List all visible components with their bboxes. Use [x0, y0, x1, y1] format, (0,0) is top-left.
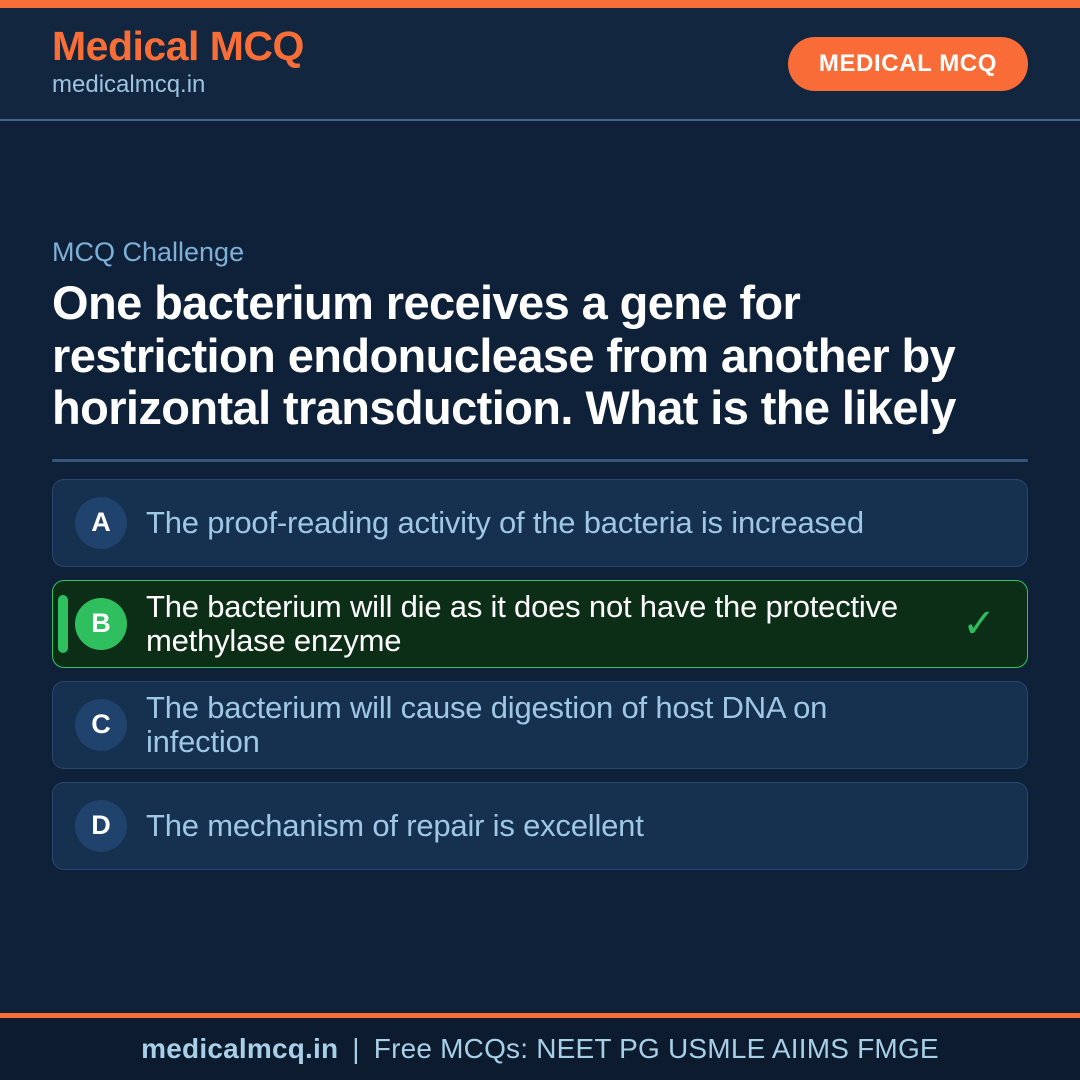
- header-badge: MEDICAL MCQ: [788, 37, 1028, 91]
- footer: medicalmcq.in|Free MCQs: NEET PG USMLE A…: [0, 1013, 1080, 1080]
- question-label: MCQ Challenge: [52, 236, 1028, 268]
- footer-text: medicalmcq.in|Free MCQs: NEET PG USMLE A…: [141, 1033, 939, 1065]
- option-a[interactable]: A The proof-reading activity of the bact…: [52, 479, 1028, 567]
- header: Medical MCQ medicalmcq.in MEDICAL MCQ: [0, 8, 1080, 121]
- main-content: MCQ Challenge One bacterium receives a g…: [0, 121, 1080, 1013]
- option-d-letter: D: [75, 800, 127, 852]
- option-b[interactable]: B The bacterium will die as it does not …: [52, 580, 1028, 668]
- brand-title: Medical MCQ: [52, 25, 304, 68]
- brand: Medical MCQ medicalmcq.in: [52, 25, 304, 101]
- brand-subtitle: medicalmcq.in: [52, 69, 304, 101]
- option-c-text: The bacterium will cause digestion of ho…: [146, 691, 938, 758]
- footer-site: medicalmcq.in: [141, 1033, 338, 1064]
- option-b-text: The bacterium will die as it does not ha…: [146, 590, 938, 657]
- option-c[interactable]: C The bacterium will cause digestion of …: [52, 681, 1028, 769]
- question-text: One bacterium receives a gene for restri…: [52, 277, 1028, 433]
- option-c-letter: C: [75, 699, 127, 751]
- mcq-card: Medical MCQ medicalmcq.in MEDICAL MCQ MC…: [0, 0, 1080, 1080]
- correct-accent-bar: [58, 595, 68, 653]
- option-a-text: The proof-reading activity of the bacter…: [146, 506, 938, 539]
- footer-separator: |: [338, 1033, 373, 1064]
- option-b-letter: B: [75, 598, 127, 650]
- top-accent-bar: [0, 0, 1080, 8]
- option-d[interactable]: D The mechanism of repair is excellent ✓: [52, 782, 1028, 870]
- check-icon: ✓: [957, 604, 1001, 644]
- option-d-text: The mechanism of repair is excellent: [146, 809, 938, 842]
- options-list: A The proof-reading activity of the bact…: [52, 479, 1028, 870]
- question-divider: [52, 459, 1028, 462]
- option-a-letter: A: [75, 497, 127, 549]
- footer-exams: Free MCQs: NEET PG USMLE AIIMS FMGE: [374, 1033, 939, 1064]
